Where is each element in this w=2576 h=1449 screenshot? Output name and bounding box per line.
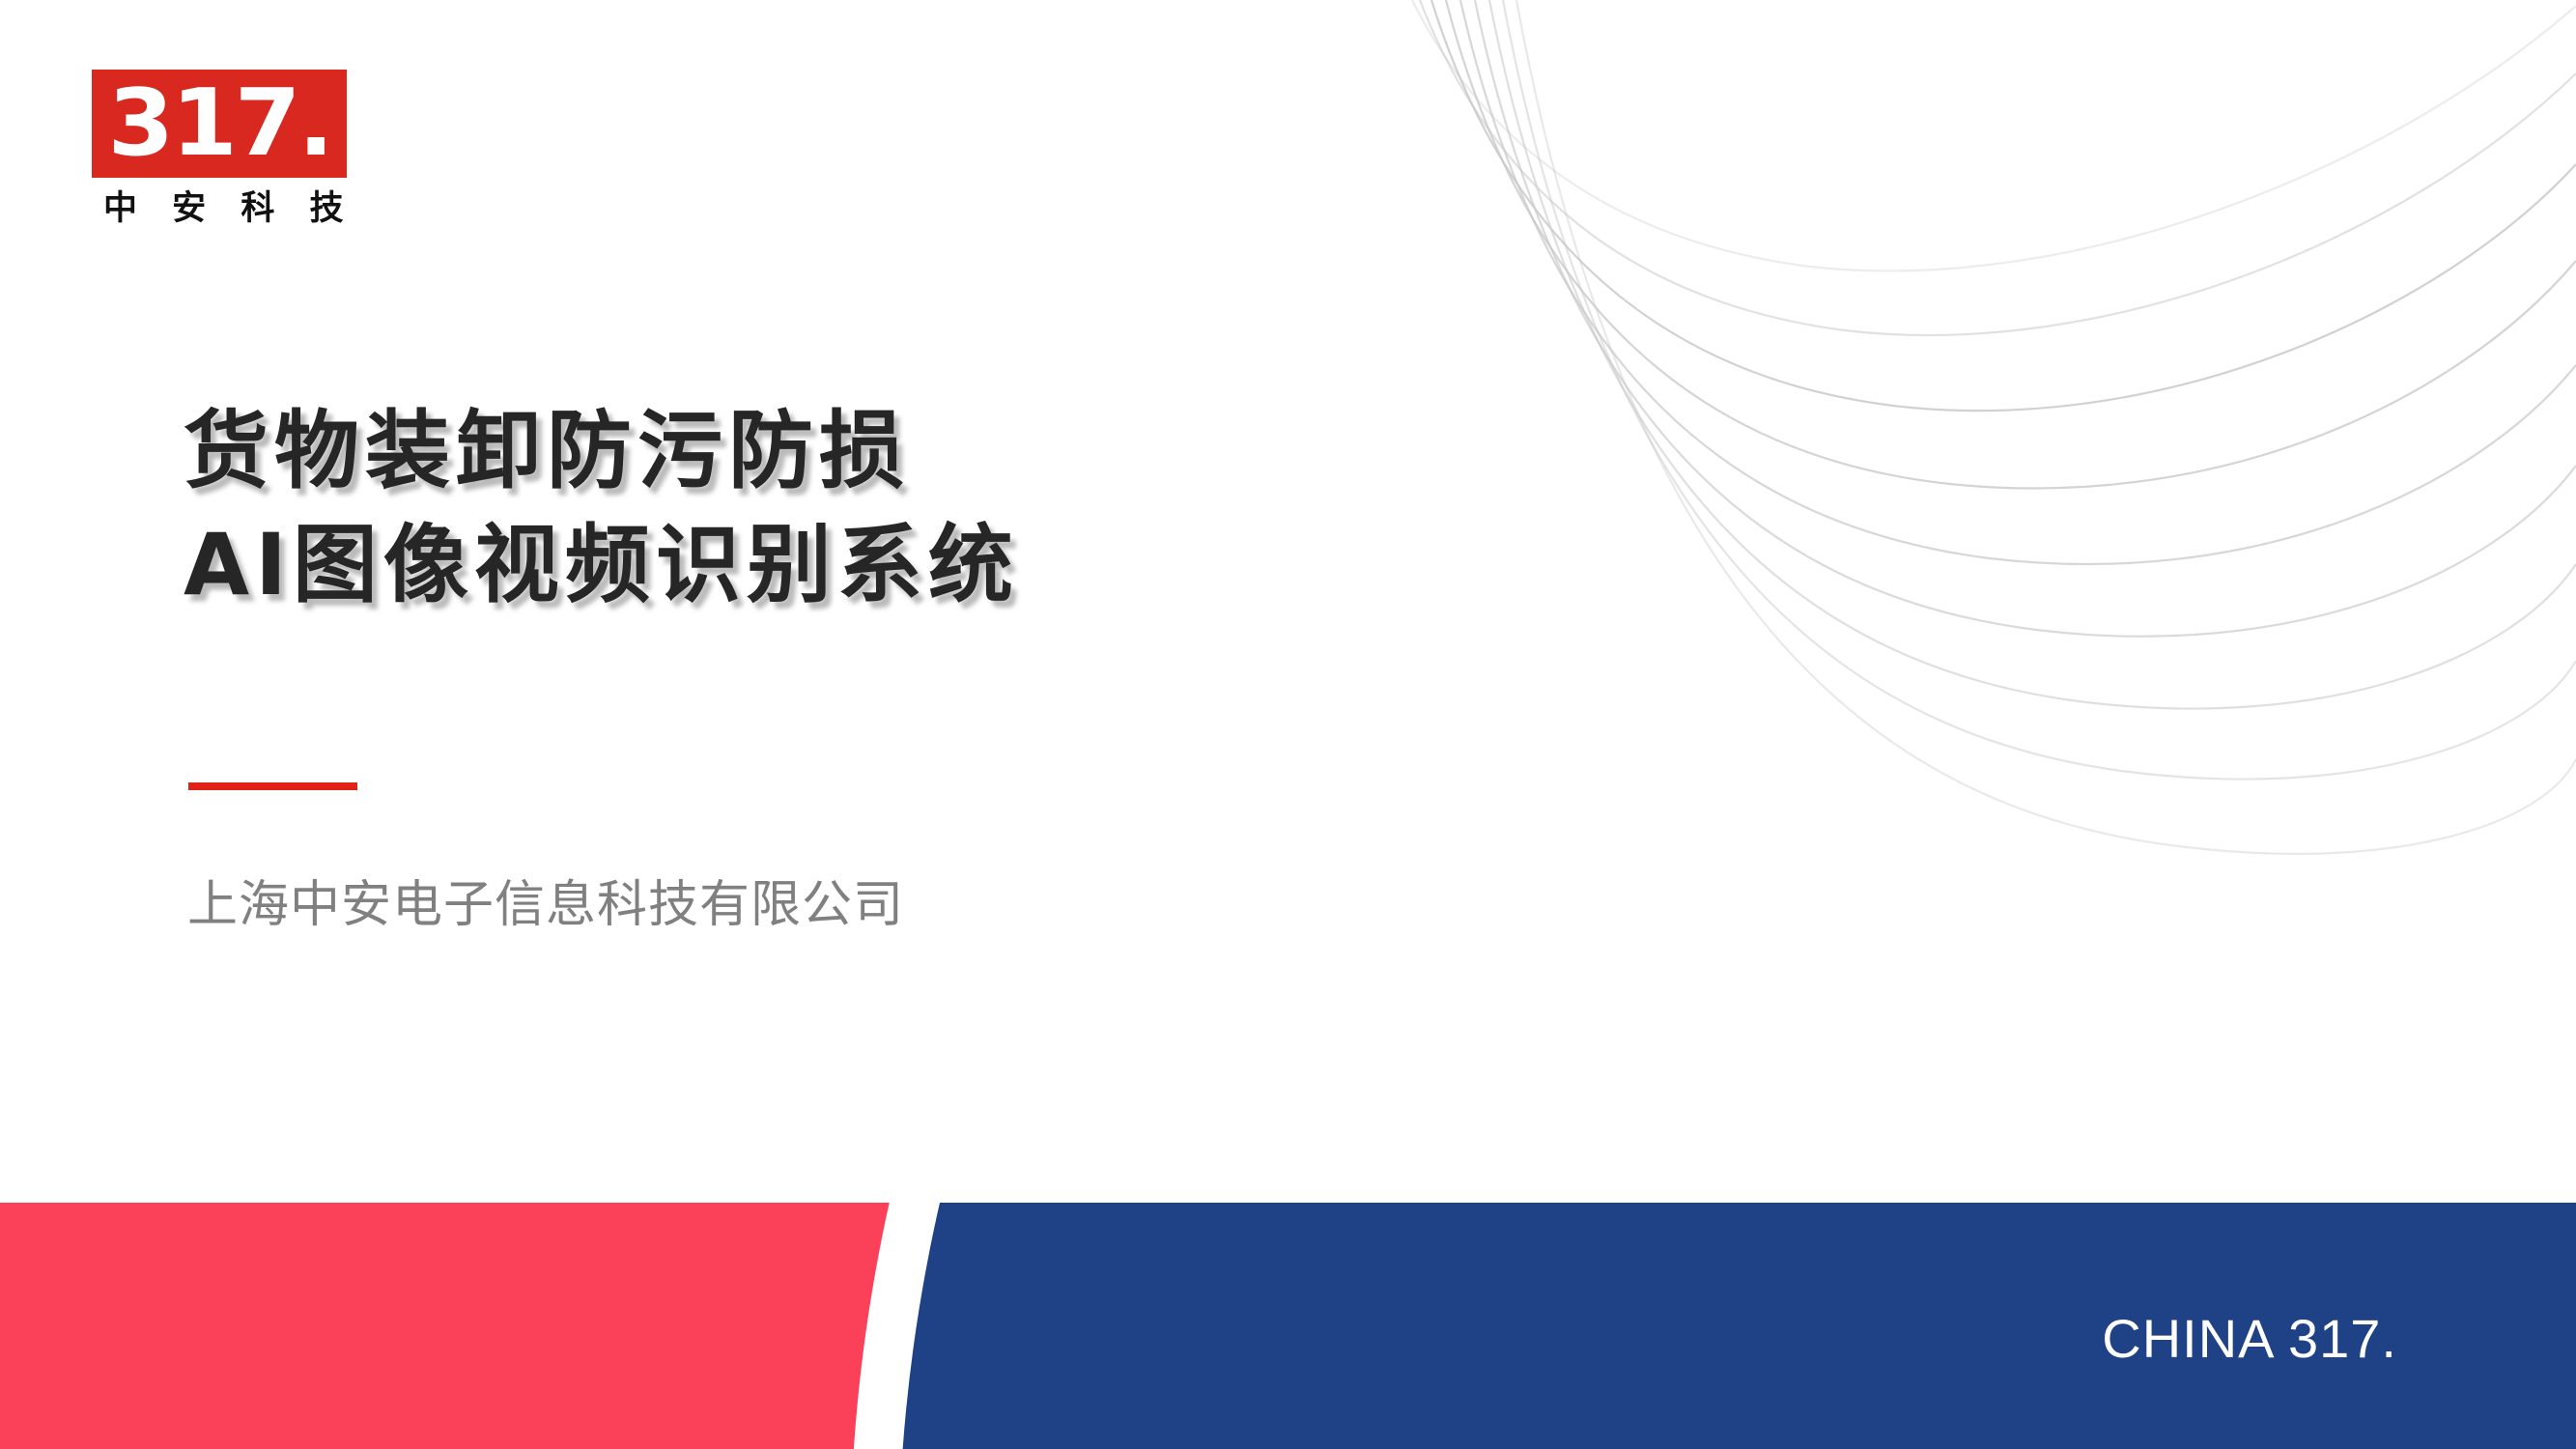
logo-mark-label: 317.: [107, 78, 330, 170]
page-title: 货物装卸防污防损 AI图像视频识别系统: [184, 394, 1536, 622]
company-subtitle: 上海中安电子信息科技有限公司: [187, 875, 904, 935]
title-slide: 317. 中 安 科 技 货物装卸防污防损 AI图像视频识别系统 上海中安电子信…: [0, 0, 2576, 1449]
logo-company-short: 中 安 科 技: [92, 189, 347, 228]
title-divider: [188, 782, 357, 790]
banner-brand-label: CHINA 317.: [2102, 1309, 2397, 1369]
logo-mark-317: 317.: [92, 70, 347, 178]
title-line-1: 货物装卸防污防损: [184, 394, 1536, 508]
brand-logo: 317. 中 安 科 技: [92, 70, 347, 228]
title-line-2: AI图像视频识别系统: [184, 508, 1536, 622]
